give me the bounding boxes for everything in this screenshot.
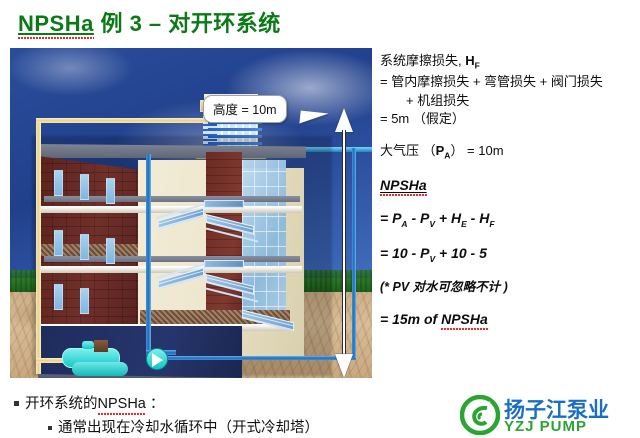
hf-term-sub: F [489,218,494,228]
page-title-rest: 例 3 – 对开环系统 [94,11,281,36]
npsha-result-label: NPSHa [441,311,488,327]
height-dimension-arrow [335,108,353,378]
bullet-item-primary: 开环系统的NPSHa ： [14,392,319,413]
formula-panel: 系统摩擦损失, HF = 管内摩擦损失 + 弯管损失 + 阀门损失 + 机组损失… [380,52,638,330]
npsha-equation-numeric: = 10 - PV + 10 - 5 [380,244,638,265]
npsha-heading: NPSHa [380,177,427,193]
friction-loss-title: 系统摩擦损失, HF [380,52,638,72]
yzj-swirl-logo-icon [460,395,500,435]
supply-pipe-riser [36,122,41,374]
callout-pointer [299,111,328,127]
hf-subscript: F [475,61,480,71]
spacer [380,231,638,244]
hf-symbol: H [465,53,474,68]
atmospheric-pressure: 大气压 （PA） = 10m [380,142,638,162]
window [106,238,115,264]
pv-note: (* PV 对水可忽略不计 ) [380,279,638,296]
bullet-square-icon [14,401,19,406]
window [80,234,89,260]
spacer [380,129,638,142]
window [54,170,63,196]
bullet-item-secondary: 通常出现在冷却水循环中（开式冷却塔） [14,416,319,437]
supply-pipe-horizontal [36,118,208,123]
page-title-npsha: NPSHa [18,11,94,36]
window [80,288,89,314]
cooling-tower-louver [208,128,262,131]
pv-term: P [420,210,429,226]
bullet-list: 开环系统的NPSHa ： 通常出现在冷却水循环中（开式冷却塔） [14,392,319,437]
npsha-equation-symbolic: = PA - PV + HE - HF [380,209,638,230]
spacer [380,196,638,209]
bullet-npsha: NPSHa [98,396,146,412]
npsha-heading-row: NPSHa [380,176,638,195]
arrow-head-down [335,354,353,378]
window [80,174,89,200]
page-title: NPSHa 例 3 – 对开环系统 [18,6,281,38]
bullet-square-icon [48,426,52,430]
chiller-unit-lower [72,362,128,376]
spacer [380,163,638,176]
pump-symbol [146,348,168,370]
return-pipe-riser [146,154,151,354]
stair-landing [204,260,244,268]
logo-english-name: YZJ PUMP [504,418,587,435]
slide-canvas: NPSHa 例 3 – 对开环系统 [0,0,640,438]
window [106,178,115,204]
height-callout: 高度 = 10m [203,95,287,123]
return-pipe-horizontal [160,356,356,360]
friction-loss-value: = 5m （假定） [380,110,638,128]
npsha-result: = 15m of NPSHa [380,310,638,329]
pa-symbol: P [436,143,445,158]
he-term: H [451,210,461,226]
spacer [380,266,638,279]
window [54,230,63,256]
window [54,284,63,310]
spacer [380,297,638,310]
company-logo: 扬子江泵业 YZJ PUMP [460,394,636,436]
hf-term: H [479,210,489,226]
building-illustration [10,48,372,378]
chiller-motor [94,340,108,352]
stair-landing [204,200,244,208]
friction-loss-components: = 管内摩擦损失 + 弯管损失 + 阀门损失 [380,73,638,91]
arrow-head-up [335,108,353,132]
friction-loss-unit-loss: + 机组损失 [380,92,638,110]
arrow-shaft [342,130,346,356]
chiller-connection [82,341,94,349]
